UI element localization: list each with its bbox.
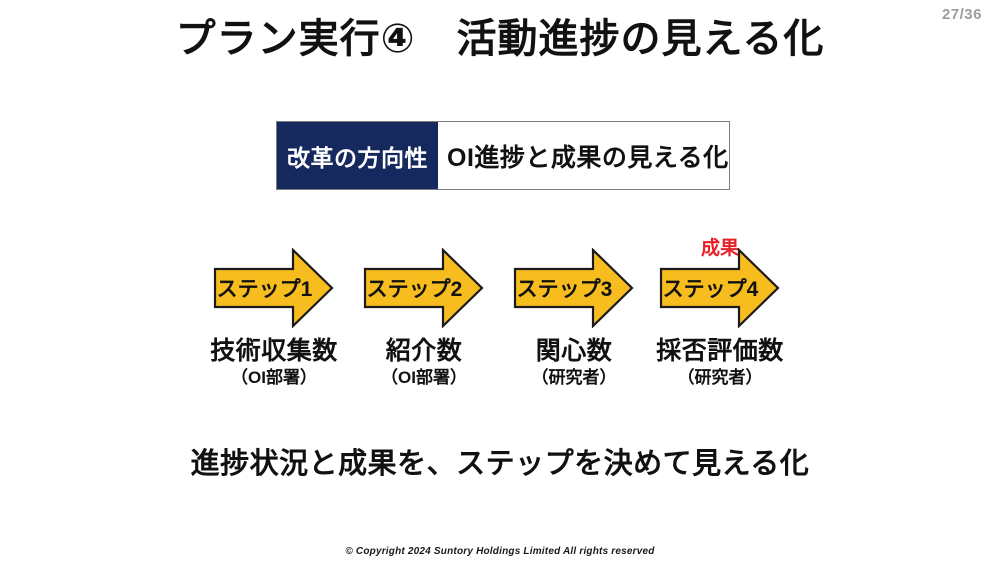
step-arrow-label-3: ステップ3 [513, 248, 616, 328]
step-caption-sub-2: （OI部署） [340, 366, 508, 390]
step-caption-sub-3: （研究者） [490, 366, 658, 390]
step-caption-3: 関心数 （研究者） [490, 336, 658, 390]
step-caption-4: 採否評価数 （研究者） [636, 336, 804, 390]
step-arrow-label-2: ステップ2 [363, 248, 466, 328]
step-caption-2: 紹介数 （OI部署） [340, 336, 508, 390]
step-caption-main-3: 関心数 [490, 336, 658, 366]
step-caption-sub-4: （研究者） [636, 366, 804, 390]
copyright-footer: © Copyright 2024 Suntory Holdings Limite… [0, 546, 1000, 557]
step-caption-main-2: 紹介数 [340, 336, 508, 366]
direction-header-box: 改革の方向性 OI進捗と成果の見える化 [276, 121, 730, 190]
step-caption-main-1: 技術収集数 [190, 336, 358, 366]
step-arrow-label-1: ステップ1 [213, 248, 316, 328]
step-arrow-label-4: ステップ4 [659, 248, 762, 328]
step-caption-main-4: 採否評価数 [636, 336, 804, 366]
summary-tagline: 進捗状況と成果を、ステップを決めて見える化 [0, 440, 1000, 482]
direction-header-label: 改革の方向性 [277, 122, 438, 189]
step-caption-sub-1: （OI部署） [190, 366, 358, 390]
page-title: プラン実行④ 活動進捗の見える化 [0, 6, 1000, 64]
direction-header-value: OI進捗と成果の見える化 [438, 122, 729, 189]
step-caption-1: 技術収集数 （OI部署） [190, 336, 358, 390]
slide-canvas: 27/36 プラン実行④ 活動進捗の見える化 改革の方向性 OI進捗と成果の見え… [0, 0, 1000, 563]
